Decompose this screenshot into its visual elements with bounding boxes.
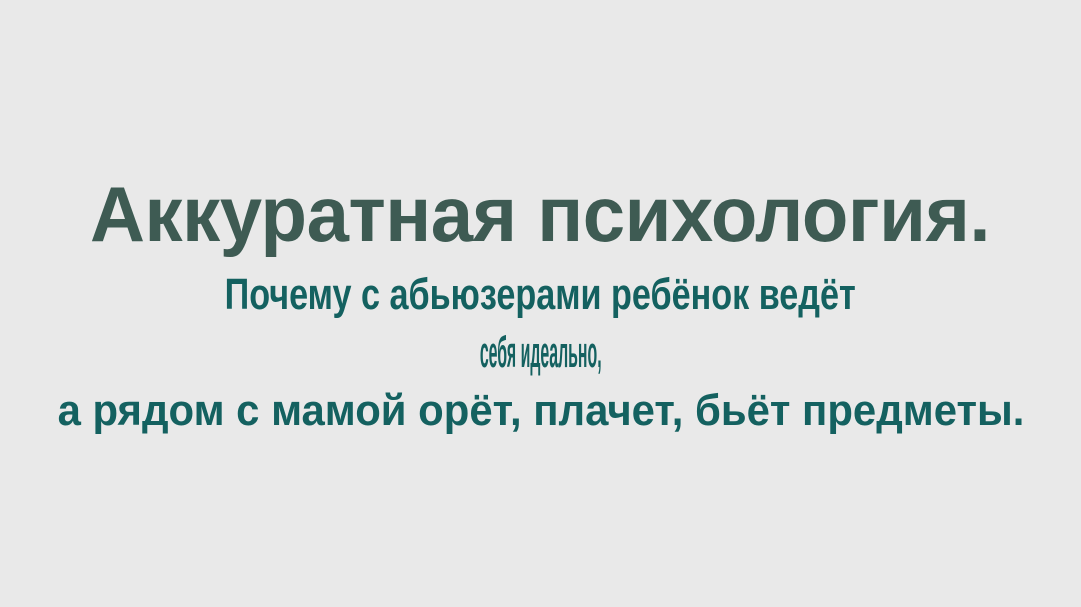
subtitle-line-1: Почему с абьюзерами ребёнок ведёт [225, 266, 856, 324]
subtitle-line-2: себя идеально, [480, 324, 602, 382]
subtitle-line-3: а рядом с мамой орёт, плачет, бьёт предм… [57, 382, 1024, 440]
title-slide: Аккуратная психология. Почему с абьюзера… [0, 0, 1081, 607]
page-title: Аккуратная психология. [90, 176, 990, 252]
slide-subtitle: Почему с абьюзерами ребёнок ведёт себя и… [14, 266, 1067, 440]
slide-text-block: Аккуратная психология. Почему с абьюзера… [0, 176, 1081, 440]
